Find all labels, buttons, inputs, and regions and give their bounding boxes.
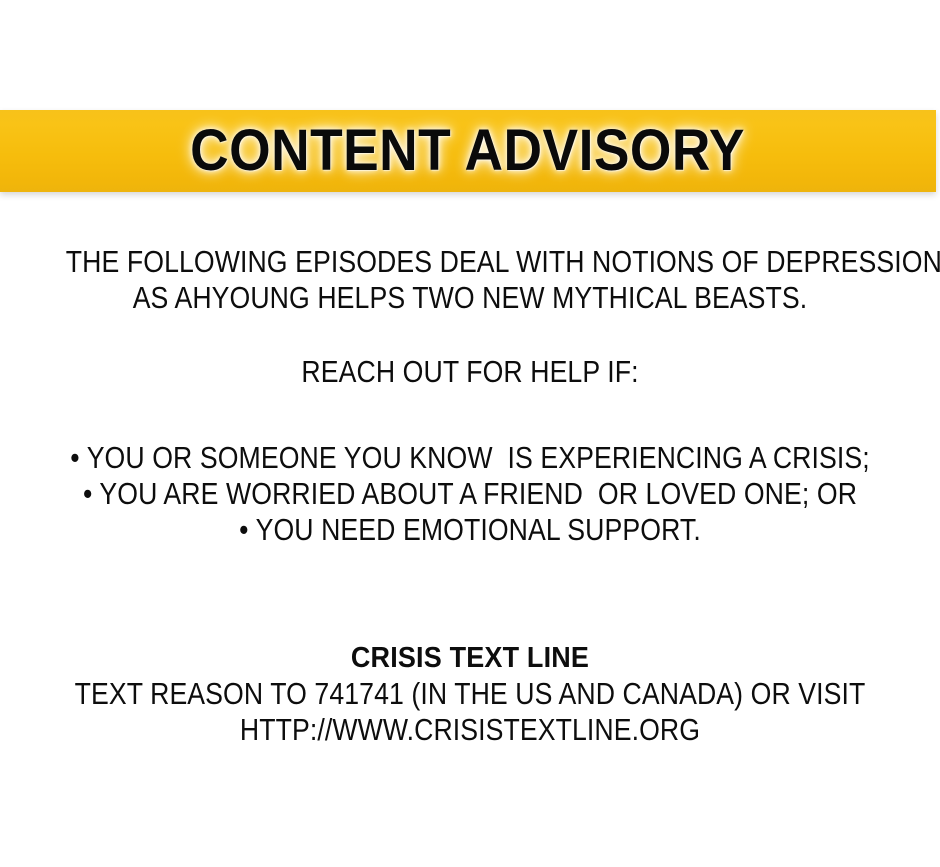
crisis-resource-block: CRISIS TEXT LINE TEXT REASON TO 741741 (… — [0, 640, 940, 748]
crisis-resource-url: HTTP://WWW.CRISISTEXTLINE.ORG — [66, 712, 874, 748]
spacer-after-intro — [0, 316, 940, 354]
advisory-bullet-item: • YOU OR SOMEONE YOU KNOW IS EXPERIENCIN… — [66, 440, 874, 476]
advisory-banner: CONTENT ADVISORY — [0, 110, 936, 192]
advisory-intro: THE FOLLOWING EPISODES DEAL WITH NOTIONS… — [0, 244, 940, 316]
advisory-bullet-item: • YOU ARE WORRIED ABOUT A FRIEND OR LOVE… — [66, 476, 874, 512]
advisory-banner-background: CONTENT ADVISORY — [0, 110, 936, 192]
advisory-body: THE FOLLOWING EPISODES DEAL WITH NOTIONS… — [0, 244, 940, 748]
crisis-resource-instructions: TEXT REASON TO 741741 (IN THE US AND CAN… — [66, 676, 874, 712]
advisory-prompt-block: REACH OUT FOR HELP IF: — [0, 354, 940, 390]
crisis-resource-name: CRISIS TEXT LINE — [33, 640, 907, 676]
spacer-before-resource — [0, 548, 940, 640]
content-advisory-slide: CONTENT ADVISORY THE FOLLOWING EPISODES … — [0, 0, 940, 867]
advisory-bullet-list: • YOU OR SOMEONE YOU KNOW IS EXPERIENCIN… — [0, 440, 940, 548]
spacer-after-prompt — [0, 390, 940, 440]
advisory-prompt: REACH OUT FOR HELP IF: — [66, 354, 874, 390]
advisory-intro-line-2: AS AHYOUNG HELPS TWO NEW MYTHICAL BEASTS… — [66, 280, 874, 316]
advisory-banner-title: CONTENT ADVISORY — [191, 122, 746, 180]
advisory-intro-line-1: THE FOLLOWING EPISODES DEAL WITH NOTIONS… — [66, 244, 874, 280]
advisory-bullet-item: • YOU NEED EMOTIONAL SUPPORT. — [66, 512, 874, 548]
